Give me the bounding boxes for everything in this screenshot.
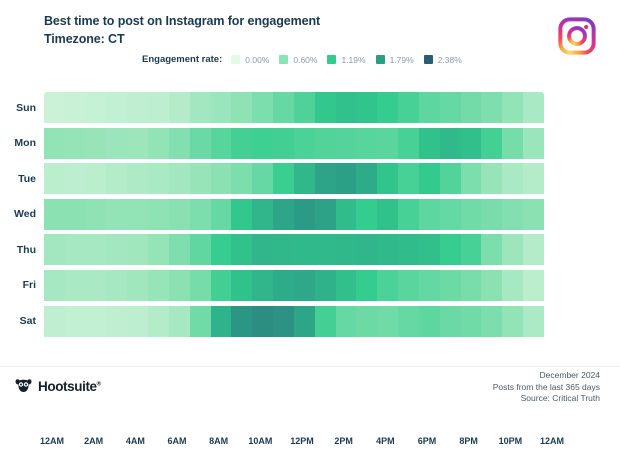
- heatmap-cell[interactable]: [273, 234, 294, 265]
- heatmap-cell[interactable]: [315, 306, 336, 337]
- heatmap-cell[interactable]: [502, 306, 523, 337]
- heatmap-cell[interactable]: [398, 128, 419, 159]
- heatmap-cell[interactable]: [273, 92, 294, 123]
- heatmap-cell[interactable]: [440, 234, 461, 265]
- heatmap-cell[interactable]: [190, 92, 211, 123]
- heatmap-cell[interactable]: [190, 306, 211, 337]
- heatmap-cell[interactable]: [169, 306, 190, 337]
- heatmap-cell[interactable]: [211, 306, 232, 337]
- x-tick-label: 12AM: [540, 436, 564, 446]
- heatmap-row-cells: [44, 270, 544, 301]
- heatmap-cell[interactable]: [481, 199, 502, 230]
- heatmap-cell[interactable]: [502, 128, 523, 159]
- heatmap-row-cells: [44, 128, 544, 159]
- heatmap-cell[interactable]: [65, 199, 86, 230]
- heatmap-cell[interactable]: [169, 270, 190, 301]
- instagram-icon: [558, 17, 596, 55]
- heatmap-cell[interactable]: [273, 128, 294, 159]
- heatmap-cell[interactable]: [336, 92, 357, 123]
- heatmap-cell[interactable]: [481, 92, 502, 123]
- x-tick-label: 12AM: [40, 436, 64, 446]
- hootsuite-logo: Hootsuite®: [14, 378, 101, 394]
- legend-item: 1.79%: [376, 55, 414, 65]
- legend-value-0: 0.00%: [245, 55, 269, 65]
- heatmap-cell[interactable]: [336, 199, 357, 230]
- x-tick-label: 8AM: [209, 436, 228, 446]
- day-label-sun: Sun: [0, 102, 44, 114]
- heatmap-cell[interactable]: [398, 306, 419, 337]
- x-tick-label: 2AM: [84, 436, 103, 446]
- x-axis: 12AM2AM4AM6AM8AM10AM12PM2PM4PM6PM8PM10PM…: [52, 436, 552, 450]
- heatmap-cell[interactable]: [148, 163, 169, 194]
- heatmap-row-cells: [44, 92, 544, 123]
- heatmap-cell[interactable]: [523, 270, 544, 301]
- page-title: Best time to post on Instagram for engag…: [44, 13, 514, 29]
- heatmap-cell[interactable]: [231, 92, 252, 123]
- heatmap-cell[interactable]: [461, 234, 482, 265]
- heatmap-cell[interactable]: [294, 128, 315, 159]
- heatmap-cell[interactable]: [86, 128, 107, 159]
- infographic-page: Best time to post on Instagram for engag…: [0, 0, 620, 413]
- heatmap-cell[interactable]: [127, 163, 148, 194]
- heatmap-cell[interactable]: [377, 92, 398, 123]
- heatmap-cell[interactable]: [315, 270, 336, 301]
- heatmap-cell[interactable]: [315, 163, 336, 194]
- heatmap-row: Tue: [0, 163, 620, 194]
- heatmap-cell[interactable]: [377, 306, 398, 337]
- heatmap-cell[interactable]: [481, 128, 502, 159]
- heatmap-cell[interactable]: [377, 199, 398, 230]
- heatmap-cell[interactable]: [315, 128, 336, 159]
- heatmap-cell[interactable]: [315, 199, 336, 230]
- heatmap-cell[interactable]: [398, 92, 419, 123]
- engagement-heatmap: SunMonTueWedThuFriSat 12AM2AM4AM6AM8AM10…: [0, 92, 620, 340]
- heatmap-cell[interactable]: [106, 234, 127, 265]
- heatmap-cell[interactable]: [294, 199, 315, 230]
- heatmap-cell[interactable]: [336, 234, 357, 265]
- heatmap-cell[interactable]: [461, 128, 482, 159]
- heatmap-row: Sat: [0, 306, 620, 337]
- heatmap-cell[interactable]: [294, 92, 315, 123]
- heatmap-cell[interactable]: [336, 128, 357, 159]
- legend-swatch-4: [424, 55, 433, 64]
- footer-date: December 2024: [493, 370, 600, 382]
- legend-swatch-2: [327, 55, 336, 64]
- heatmap-row-cells: [44, 234, 544, 265]
- heatmap-cell[interactable]: [440, 128, 461, 159]
- heatmap-row-cells: [44, 306, 544, 337]
- heatmap-cell[interactable]: [419, 270, 440, 301]
- heatmap-cell[interactable]: [419, 92, 440, 123]
- heatmap-cell[interactable]: [523, 306, 544, 337]
- x-tick-label: 4AM: [126, 436, 145, 446]
- heatmap-cell[interactable]: [231, 306, 252, 337]
- heatmap-cell[interactable]: [481, 234, 502, 265]
- heatmap-cell[interactable]: [148, 306, 169, 337]
- heatmap-cell[interactable]: [106, 199, 127, 230]
- x-tick-label: 10PM: [499, 436, 523, 446]
- heatmap-cell[interactable]: [356, 128, 377, 159]
- x-tick-label: 10AM: [248, 436, 272, 446]
- heatmap-cell[interactable]: [419, 199, 440, 230]
- heatmap-cell[interactable]: [127, 234, 148, 265]
- heatmap-cell[interactable]: [86, 270, 107, 301]
- x-tick-label: 12PM: [290, 436, 314, 446]
- legend-value-1: 0.60%: [293, 55, 317, 65]
- header: Best time to post on Instagram for engag…: [44, 13, 514, 47]
- heatmap-cell[interactable]: [44, 306, 65, 337]
- heatmap-cell[interactable]: [336, 306, 357, 337]
- heatmap-grid: SunMonTueWedThuFriSat: [0, 92, 620, 341]
- heatmap-cell[interactable]: [169, 199, 190, 230]
- heatmap-cell[interactable]: [481, 163, 502, 194]
- heatmap-cell[interactable]: [294, 234, 315, 265]
- heatmap-cell[interactable]: [523, 234, 544, 265]
- heatmap-cell[interactable]: [398, 199, 419, 230]
- heatmap-cell[interactable]: [190, 234, 211, 265]
- heatmap-cell[interactable]: [273, 306, 294, 337]
- legend-item: 1.19%: [327, 55, 365, 65]
- legend-title: Engagement rate:: [142, 54, 222, 65]
- legend-item: 0.00%: [231, 55, 269, 65]
- x-tick-label: 2PM: [334, 436, 353, 446]
- heatmap-cell[interactable]: [65, 128, 86, 159]
- heatmap-cell[interactable]: [273, 199, 294, 230]
- heatmap-cell[interactable]: [106, 163, 127, 194]
- heatmap-cell[interactable]: [106, 270, 127, 301]
- legend: Engagement rate: 0.00% 0.60% 1.19% 1.79%…: [142, 54, 472, 65]
- heatmap-cell[interactable]: [211, 234, 232, 265]
- heatmap-cell[interactable]: [440, 199, 461, 230]
- heatmap-cell[interactable]: [502, 234, 523, 265]
- legend-value-3: 1.79%: [390, 55, 414, 65]
- legend-swatch-1: [279, 55, 288, 64]
- heatmap-row: Wed: [0, 199, 620, 230]
- heatmap-cell[interactable]: [65, 163, 86, 194]
- heatmap-cell[interactable]: [65, 270, 86, 301]
- heatmap-cell[interactable]: [481, 270, 502, 301]
- heatmap-cell[interactable]: [356, 92, 377, 123]
- heatmap-cell[interactable]: [523, 128, 544, 159]
- heatmap-cell[interactable]: [252, 92, 273, 123]
- heatmap-cell[interactable]: [377, 163, 398, 194]
- heatmap-row-cells: [44, 199, 544, 230]
- heatmap-cell[interactable]: [148, 92, 169, 123]
- heatmap-cell[interactable]: [127, 128, 148, 159]
- heatmap-cell[interactable]: [440, 270, 461, 301]
- heatmap-cell[interactable]: [190, 163, 211, 194]
- heatmap-cell[interactable]: [86, 92, 107, 123]
- day-label-tue: Tue: [0, 173, 44, 185]
- heatmap-cell[interactable]: [502, 92, 523, 123]
- brand-text: Hootsuite: [38, 379, 97, 394]
- heatmap-row: Mon: [0, 128, 620, 159]
- heatmap-cell[interactable]: [419, 234, 440, 265]
- heatmap-cell[interactable]: [127, 199, 148, 230]
- heatmap-cell[interactable]: [461, 163, 482, 194]
- heatmap-cell[interactable]: [169, 128, 190, 159]
- heatmap-cell[interactable]: [398, 163, 419, 194]
- heatmap-cell[interactable]: [419, 163, 440, 194]
- heatmap-cell[interactable]: [231, 128, 252, 159]
- footer-divider: [0, 366, 620, 367]
- heatmap-cell[interactable]: [86, 234, 107, 265]
- heatmap-cell[interactable]: [523, 163, 544, 194]
- footer-source-note: December 2024 Posts from the last 365 da…: [493, 370, 600, 405]
- heatmap-cell[interactable]: [106, 92, 127, 123]
- footer-range: Posts from the last 365 days: [493, 382, 600, 394]
- heatmap-cell[interactable]: [273, 163, 294, 194]
- legend-swatch-0: [231, 55, 240, 64]
- heatmap-cell[interactable]: [252, 270, 273, 301]
- day-label-sat: Sat: [0, 315, 44, 327]
- heatmap-cell[interactable]: [461, 199, 482, 230]
- heatmap-row-cells: [44, 163, 544, 194]
- legend-item: 0.60%: [279, 55, 317, 65]
- owl-icon: [14, 378, 33, 394]
- heatmap-cell[interactable]: [148, 128, 169, 159]
- heatmap-cell[interactable]: [523, 199, 544, 230]
- heatmap-cell[interactable]: [127, 270, 148, 301]
- heatmap-cell[interactable]: [211, 199, 232, 230]
- heatmap-row: Thu: [0, 234, 620, 265]
- heatmap-cell[interactable]: [44, 234, 65, 265]
- heatmap-cell[interactable]: [481, 306, 502, 337]
- heatmap-cell[interactable]: [44, 92, 65, 123]
- day-label-thu: Thu: [0, 244, 44, 256]
- legend-item: 2.38%: [424, 55, 462, 65]
- heatmap-cell[interactable]: [169, 92, 190, 123]
- heatmap-cell[interactable]: [86, 199, 107, 230]
- heatmap-cell[interactable]: [127, 306, 148, 337]
- timezone-subtitle: Timezone: CT: [44, 31, 514, 47]
- heatmap-cell[interactable]: [252, 199, 273, 230]
- heatmap-cell[interactable]: [502, 270, 523, 301]
- heatmap-cell[interactable]: [211, 270, 232, 301]
- heatmap-cell[interactable]: [65, 234, 86, 265]
- heatmap-cell[interactable]: [252, 128, 273, 159]
- heatmap-cell[interactable]: [231, 234, 252, 265]
- heatmap-cell[interactable]: [211, 92, 232, 123]
- heatmap-cell[interactable]: [398, 234, 419, 265]
- heatmap-cell[interactable]: [502, 199, 523, 230]
- heatmap-cell[interactable]: [294, 270, 315, 301]
- x-tick-label: 6PM: [418, 436, 437, 446]
- day-label-wed: Wed: [0, 208, 44, 220]
- heatmap-cell[interactable]: [106, 128, 127, 159]
- heatmap-cell[interactable]: [398, 270, 419, 301]
- x-tick-label: 8PM: [459, 436, 478, 446]
- day-label-mon: Mon: [0, 137, 44, 149]
- heatmap-cell[interactable]: [44, 270, 65, 301]
- heatmap-cell[interactable]: [377, 128, 398, 159]
- heatmap-cell[interactable]: [294, 306, 315, 337]
- heatmap-cell[interactable]: [65, 92, 86, 123]
- heatmap-cell[interactable]: [356, 163, 377, 194]
- heatmap-row: Fri: [0, 270, 620, 301]
- heatmap-cell[interactable]: [148, 199, 169, 230]
- heatmap-cell[interactable]: [502, 163, 523, 194]
- heatmap-cell[interactable]: [356, 199, 377, 230]
- heatmap-cell[interactable]: [231, 199, 252, 230]
- heatmap-cell[interactable]: [419, 306, 440, 337]
- heatmap-cell[interactable]: [148, 234, 169, 265]
- heatmap-cell[interactable]: [419, 128, 440, 159]
- footer-source: Source: Critical Truth: [493, 393, 600, 405]
- day-label-fri: Fri: [0, 279, 44, 291]
- heatmap-cell[interactable]: [461, 270, 482, 301]
- heatmap-cell[interactable]: [377, 234, 398, 265]
- heatmap-cell[interactable]: [86, 163, 107, 194]
- heatmap-cell[interactable]: [190, 270, 211, 301]
- heatmap-cell[interactable]: [169, 234, 190, 265]
- heatmap-cell[interactable]: [169, 163, 190, 194]
- heatmap-cell[interactable]: [65, 306, 86, 337]
- heatmap-cell[interactable]: [106, 306, 127, 337]
- heatmap-cell[interactable]: [252, 306, 273, 337]
- heatmap-cell[interactable]: [127, 92, 148, 123]
- legend-swatch-3: [376, 55, 385, 64]
- heatmap-cell[interactable]: [377, 270, 398, 301]
- heatmap-cell[interactable]: [294, 163, 315, 194]
- heatmap-cell[interactable]: [315, 92, 336, 123]
- heatmap-cell[interactable]: [336, 270, 357, 301]
- brand-name: Hootsuite®: [38, 379, 101, 394]
- heatmap-cell[interactable]: [211, 128, 232, 159]
- heatmap-cell[interactable]: [440, 163, 461, 194]
- heatmap-cell[interactable]: [231, 163, 252, 194]
- heatmap-cell[interactable]: [44, 128, 65, 159]
- heatmap-cell[interactable]: [44, 199, 65, 230]
- heatmap-cell[interactable]: [440, 92, 461, 123]
- heatmap-cell[interactable]: [356, 306, 377, 337]
- heatmap-cell[interactable]: [461, 92, 482, 123]
- heatmap-cell[interactable]: [190, 199, 211, 230]
- heatmap-cell[interactable]: [356, 270, 377, 301]
- heatmap-cell[interactable]: [252, 234, 273, 265]
- heatmap-cell[interactable]: [190, 128, 211, 159]
- brand-registered-mark: ®: [97, 381, 101, 387]
- heatmap-cell[interactable]: [440, 306, 461, 337]
- heatmap-cell[interactable]: [231, 270, 252, 301]
- heatmap-cell[interactable]: [356, 234, 377, 265]
- heatmap-cell[interactable]: [211, 163, 232, 194]
- heatmap-cell[interactable]: [86, 306, 107, 337]
- heatmap-cell[interactable]: [523, 92, 544, 123]
- heatmap-cell[interactable]: [336, 163, 357, 194]
- legend-value-2: 1.19%: [341, 55, 365, 65]
- heatmap-row: Sun: [0, 92, 620, 123]
- x-tick-label: 6AM: [167, 436, 186, 446]
- heatmap-cell[interactable]: [252, 163, 273, 194]
- heatmap-cell[interactable]: [44, 163, 65, 194]
- heatmap-cell[interactable]: [461, 306, 482, 337]
- heatmap-cell[interactable]: [273, 270, 294, 301]
- x-tick-label: 4PM: [376, 436, 395, 446]
- legend-value-4: 2.38%: [438, 55, 462, 65]
- heatmap-cell[interactable]: [148, 270, 169, 301]
- heatmap-cell[interactable]: [315, 234, 336, 265]
